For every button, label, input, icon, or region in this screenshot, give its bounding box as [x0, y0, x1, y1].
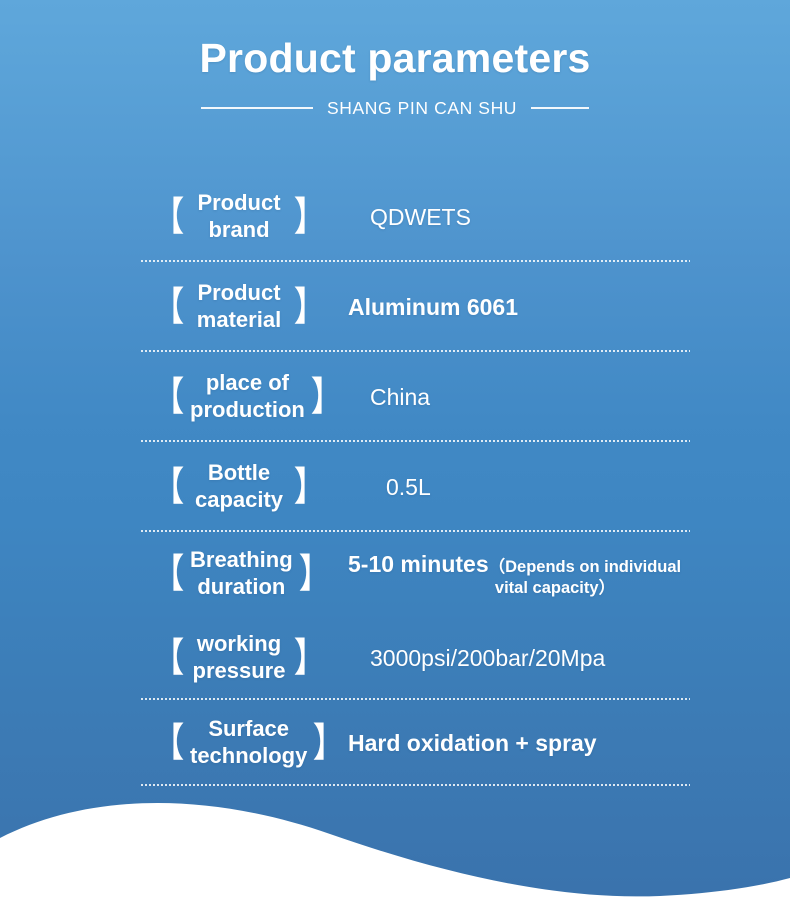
subtitle-rule-right — [531, 107, 589, 109]
label-line-1: Product — [197, 190, 280, 215]
bracket-left-icon: 【 — [152, 377, 185, 417]
parameter-row-breathing-duration: 【 Breathing duration 】 5-10 minutes（Depe… — [0, 532, 790, 616]
bracket-left-icon: 【 — [152, 638, 185, 678]
parameter-row-surface-technology: 【 Surface technology 】 Hard oxidation + … — [0, 700, 790, 786]
parameter-value-breathing-duration: 5-10 minutes（Depends on individual vital… — [330, 550, 790, 598]
parameter-row-bottle-capacity: 【 Bottle capacity 】 0.5L — [0, 442, 790, 532]
label-line-2: technology — [190, 743, 307, 770]
label-line-1: Bottle — [208, 460, 270, 485]
parameter-label-text: place of production — [190, 370, 305, 424]
label-line-2: pressure — [190, 658, 288, 685]
page-subtitle: SHANG PIN CAN SHU — [327, 98, 517, 119]
bracket-right-icon: 】 — [294, 467, 327, 507]
parameter-label-product-brand: 【 Product brand 】 — [148, 190, 330, 244]
bracket-right-icon: 】 — [310, 377, 343, 417]
parameter-label-text: working pressure — [190, 631, 288, 685]
product-parameters-poster: Product parameters SHANG PIN CAN SHU 【 P… — [0, 0, 790, 906]
parameter-row-product-brand: 【 Product brand 】 QDWETS — [0, 172, 790, 262]
label-line-2: duration — [190, 574, 293, 601]
parameter-label-text: Bottle capacity — [190, 460, 288, 514]
parameter-row-place-of-production: 【 place of production 】 China — [0, 352, 790, 442]
bracket-left-icon: 【 — [152, 554, 185, 594]
parameter-label-breathing-duration: 【 Breathing duration 】 — [148, 547, 330, 601]
label-line-2: production — [190, 397, 305, 424]
parameter-label-product-material: 【 Product material 】 — [148, 280, 330, 334]
bottom-wave-decoration — [0, 776, 790, 906]
label-line-2: brand — [190, 217, 288, 244]
parameter-value-product-material: Aluminum 6061 — [330, 293, 790, 321]
label-line-2: material — [190, 307, 288, 334]
parameter-label-place-of-production: 【 place of production 】 — [148, 370, 330, 424]
page-title: Product parameters — [0, 36, 790, 82]
bracket-left-icon: 【 — [152, 723, 185, 763]
breathing-duration-main: 5-10 minutes — [348, 551, 489, 577]
parameter-list: 【 Product brand 】 QDWETS 【 Product mater… — [0, 172, 790, 786]
label-line-1: Product — [197, 280, 280, 305]
label-line-1: Breathing — [190, 547, 293, 572]
parameter-row-working-pressure: 【 working pressure 】 3000psi/200bar/20Mp… — [0, 616, 790, 700]
bracket-left-icon: 【 — [152, 467, 185, 507]
bracket-right-icon: 】 — [298, 554, 331, 594]
label-line-1: working — [197, 631, 281, 656]
parameter-label-text: Surface technology — [190, 716, 307, 770]
poster-header: Product parameters SHANG PIN CAN SHU — [0, 36, 790, 119]
parameter-value-place-of-production: China — [330, 383, 790, 411]
subtitle-row: SHANG PIN CAN SHU — [0, 98, 790, 119]
parameter-value-bottle-capacity: 0.5L — [330, 473, 790, 501]
parameter-value-product-brand: QDWETS — [330, 203, 790, 231]
parameter-label-text: Product material — [190, 280, 288, 334]
subtitle-rule-left — [201, 107, 313, 109]
label-line-1: place of — [206, 370, 289, 395]
label-line-2: capacity — [190, 487, 288, 514]
bracket-left-icon: 【 — [152, 197, 185, 237]
parameter-row-product-material: 【 Product material 】 Aluminum 6061 — [0, 262, 790, 352]
parameter-label-text: Breathing duration — [190, 547, 293, 601]
label-line-1: Surface — [208, 716, 289, 741]
bracket-right-icon: 】 — [294, 638, 327, 678]
bracket-left-icon: 【 — [152, 287, 185, 327]
parameter-value-surface-technology: Hard oxidation + spray — [330, 729, 790, 757]
parameter-value-working-pressure: 3000psi/200bar/20Mpa — [330, 644, 790, 672]
parameter-label-surface-technology: 【 Surface technology 】 — [148, 716, 330, 770]
breathing-duration-note-line-1: （Depends on individual — [489, 558, 682, 576]
parameter-label-bottle-capacity: 【 Bottle capacity 】 — [148, 460, 330, 514]
parameter-label-text: Product brand — [190, 190, 288, 244]
bracket-right-icon: 】 — [313, 723, 346, 763]
bracket-right-icon: 】 — [294, 197, 327, 237]
breathing-duration-note-line-2: vital capacity） — [348, 578, 790, 598]
bracket-right-icon: 】 — [294, 287, 327, 327]
parameter-label-working-pressure: 【 working pressure 】 — [148, 631, 330, 685]
